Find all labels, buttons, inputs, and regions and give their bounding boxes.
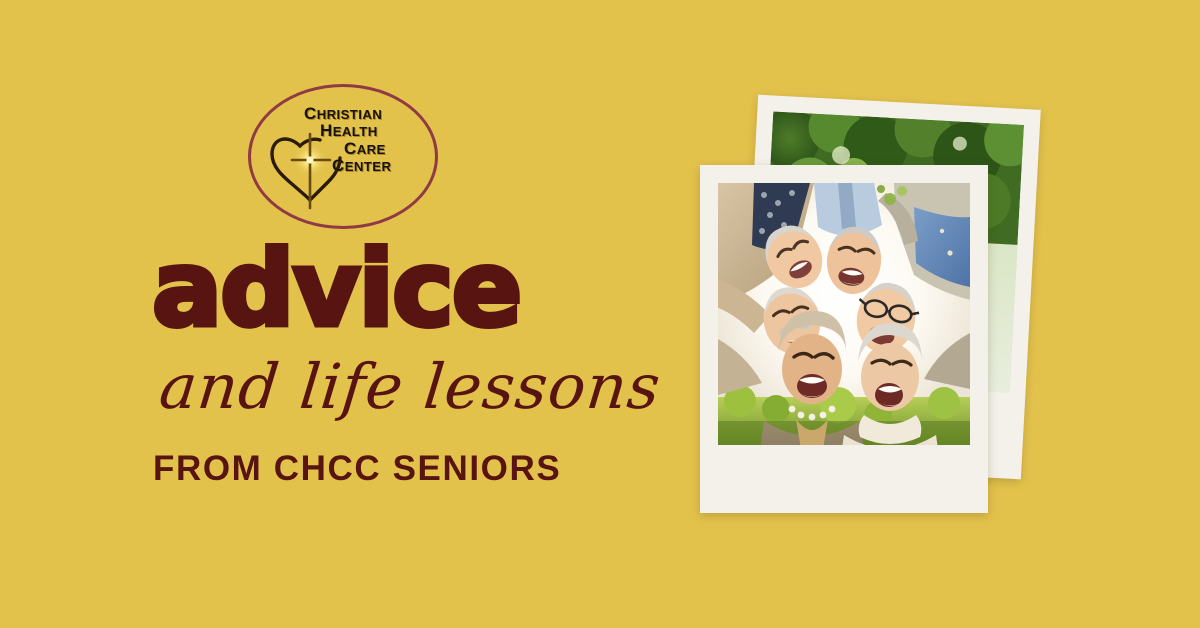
poster-canvas: CHRISTIAN HEALTH CARE CENTER advice and … — [0, 0, 1200, 628]
chcc-logo: CHRISTIAN HEALTH CARE CENTER — [248, 84, 438, 229]
headline-script: and life lessons — [157, 356, 664, 418]
photo-stack — [690, 80, 1070, 540]
headline-advice: advice — [152, 247, 520, 332]
polaroid-front-photo — [718, 183, 970, 445]
logo-line-4: CENTER — [304, 157, 434, 174]
logo-line-2: HEALTH — [304, 122, 434, 139]
logo-line-3: CARE — [304, 140, 434, 157]
logo-line-1: CHRISTIAN — [304, 105, 434, 122]
content-column: CHRISTIAN HEALTH CARE CENTER advice and … — [152, 0, 672, 628]
headline-subtitle: FROM CHCC SENIORS — [153, 451, 561, 486]
polaroid-front — [700, 165, 988, 513]
logo-wordmark: CHRISTIAN HEALTH CARE CENTER — [304, 105, 434, 174]
